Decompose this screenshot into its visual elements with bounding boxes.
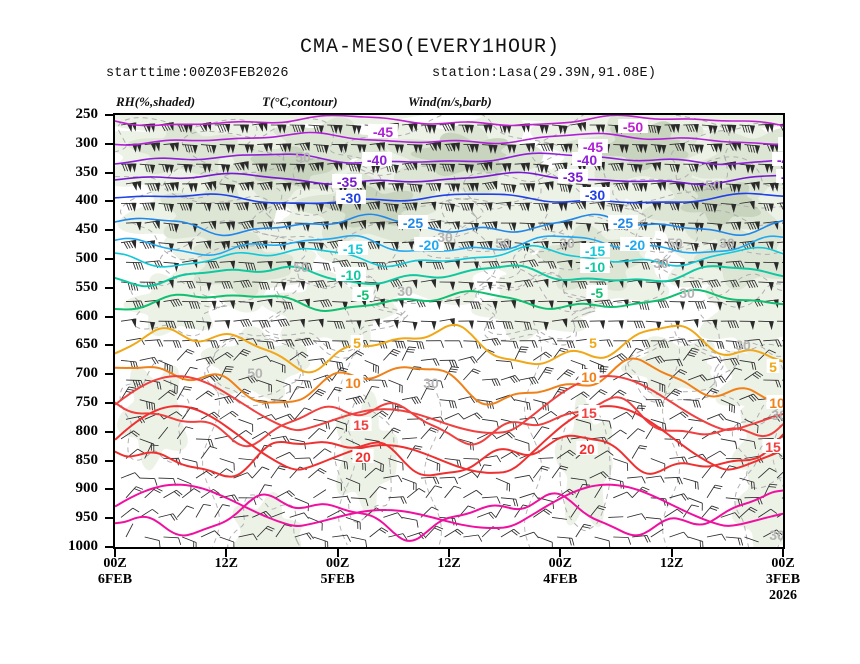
svg-text:-25: -25 [403, 215, 423, 231]
svg-text:-40: -40 [367, 152, 387, 168]
y-axis-tick [105, 517, 113, 519]
svg-text:30: 30 [653, 255, 669, 271]
svg-text:20: 20 [355, 449, 371, 465]
y-axis-tick-label: 750 [52, 394, 98, 411]
svg-text:-15: -15 [585, 243, 605, 259]
y-axis-tick-label: 900 [52, 480, 98, 497]
svg-text:30: 30 [437, 229, 453, 245]
y-axis-tick [105, 316, 113, 318]
y-axis-tick-label: 850 [52, 452, 98, 469]
y-axis-tick-label: 400 [52, 192, 98, 209]
y-axis-tick-label: 550 [52, 279, 98, 296]
y-axis-tick-label: 250 [52, 106, 98, 123]
svg-text:-5: -5 [591, 285, 604, 301]
y-axis-tick [105, 143, 113, 145]
x-axis-tick-label: 00Z4FEB [525, 556, 595, 588]
svg-text:5: 5 [769, 359, 777, 375]
svg-text:30: 30 [397, 283, 413, 299]
svg-text:-20: -20 [625, 237, 645, 253]
y-axis-tick-label: 650 [52, 336, 98, 353]
svg-text:30: 30 [423, 375, 439, 391]
starttime-label: starttime:00Z03FEB2026 [106, 66, 289, 81]
svg-text:10: 10 [581, 369, 597, 385]
y-axis-tick-label: 1000 [52, 538, 98, 555]
x-axis-tick-label: 12Z [414, 556, 484, 572]
svg-text:30: 30 [771, 407, 783, 423]
plot-area: -45-50-50-45-45-40-40-40-35-35-35-30-30-… [113, 113, 785, 549]
legend-wind: Wind(m/s,barb) [408, 94, 492, 110]
x-axis-tick-label: 00Z3FEB2026 [748, 556, 818, 604]
y-axis-tick-label: 500 [52, 250, 98, 267]
y-axis-tick [105, 431, 113, 433]
y-axis-tick [105, 402, 113, 404]
svg-text:50: 50 [247, 365, 263, 381]
y-axis-tick [105, 287, 113, 289]
svg-text:-25: -25 [613, 215, 633, 231]
y-axis-tick-label: 300 [52, 135, 98, 152]
y-axis-tick-label: 450 [52, 221, 98, 238]
svg-text:-5: -5 [357, 287, 370, 303]
svg-text:-35: -35 [337, 174, 357, 190]
y-axis-tick [105, 200, 113, 202]
x-axis-tick-label: 00Z6FEB [80, 556, 150, 588]
svg-text:30: 30 [735, 337, 751, 353]
svg-text:20: 20 [579, 441, 595, 457]
svg-text:-35: -35 [563, 169, 583, 185]
svg-text:-40: -40 [777, 152, 783, 168]
y-axis-tick-label: 700 [52, 365, 98, 382]
svg-text:10: 10 [345, 375, 361, 391]
svg-text:-50: -50 [623, 119, 643, 135]
svg-text:50: 50 [667, 235, 683, 251]
cross-section-svg: -45-50-50-45-45-40-40-40-35-35-35-30-30-… [115, 115, 783, 547]
svg-text:15: 15 [353, 417, 369, 433]
svg-text:15: 15 [765, 439, 781, 455]
svg-text:-10: -10 [585, 259, 605, 275]
y-axis-tick-label: 950 [52, 509, 98, 526]
svg-text:-40: -40 [577, 152, 597, 168]
svg-text:5: 5 [353, 335, 361, 351]
svg-text:50: 50 [295, 149, 311, 165]
x-axis-tick-label: 12Z [191, 556, 261, 572]
svg-text:-15: -15 [343, 241, 363, 257]
y-axis-tick [105, 172, 113, 174]
y-axis-tick [105, 373, 113, 375]
y-axis-tick [105, 114, 113, 116]
legend-rh: RH(%,shaded) [116, 94, 195, 110]
svg-text:-10: -10 [341, 267, 361, 283]
svg-text:-30: -30 [341, 190, 361, 206]
y-axis-tick [105, 460, 113, 462]
y-axis-tick-label: 350 [52, 164, 98, 181]
svg-text:-35: -35 [781, 169, 783, 185]
svg-text:50: 50 [293, 259, 309, 275]
svg-text:30: 30 [679, 285, 695, 301]
svg-text:30: 30 [769, 527, 783, 543]
legend-temperature: T(°C,contour) [262, 94, 338, 110]
y-axis-tick-label: 800 [52, 423, 98, 440]
y-axis-tick [105, 344, 113, 346]
y-axis-tick-label: 600 [52, 308, 98, 325]
svg-text:50: 50 [495, 235, 511, 251]
x-axis-tick-label: 12Z [637, 556, 707, 572]
svg-text:50: 50 [705, 177, 721, 193]
y-axis-tick [105, 258, 113, 260]
svg-text:15: 15 [581, 405, 597, 421]
page-title: CMA-MESO(EVERY1HOUR) [0, 36, 860, 59]
chart-page: CMA-MESO(EVERY1HOUR) starttime:00Z03FEB2… [0, 0, 860, 664]
svg-text:5: 5 [589, 335, 597, 351]
station-label: station:Lasa(29.39N,91.08E) [432, 66, 656, 81]
x-axis-tick-label: 00Z5FEB [303, 556, 373, 588]
svg-text:-45: -45 [373, 124, 393, 140]
svg-text:30: 30 [559, 235, 575, 251]
svg-text:-30: -30 [585, 187, 605, 203]
y-axis-tick [105, 488, 113, 490]
y-axis-tick [105, 546, 113, 548]
y-axis-tick [105, 229, 113, 231]
svg-text:30: 30 [719, 235, 735, 251]
